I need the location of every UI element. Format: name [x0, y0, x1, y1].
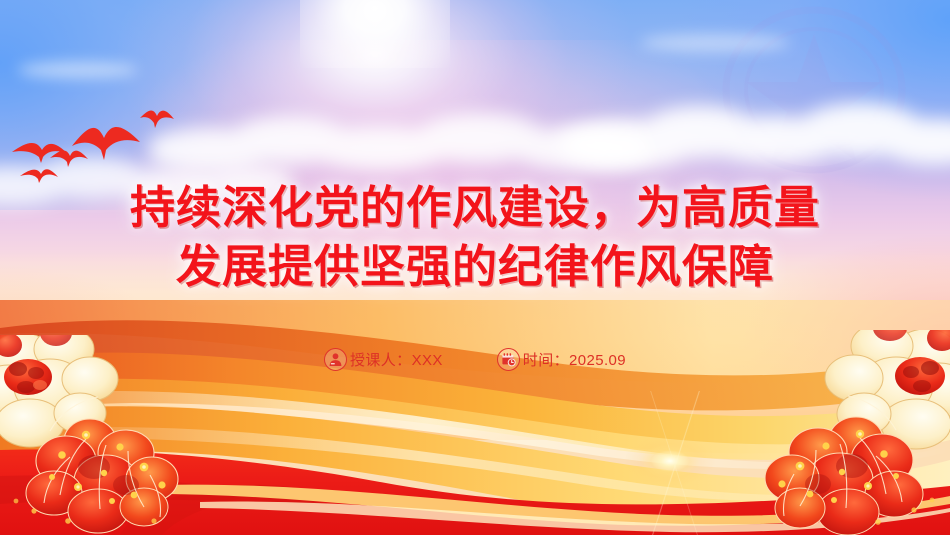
- presenter-text: 授课人：XXX: [350, 349, 443, 370]
- date-text: 时间：2025.09: [523, 349, 626, 370]
- presenter-item: 授课人：XXX: [324, 348, 443, 371]
- title-line-1: 持续深化党的作风建设，为高质量: [0, 178, 950, 237]
- title-line-2: 发展提供坚强的纪律作风保障: [0, 237, 950, 296]
- calendar-clock-icon: [497, 348, 520, 371]
- sun-core: [300, 0, 450, 68]
- presentation-slide: 持续深化党的作风建设，为高质量 发展提供坚强的纪律作风保障 授课人：XXX: [0, 0, 950, 535]
- date-item: 时间：2025.09: [497, 348, 626, 371]
- cloud-wisp-right-top: [640, 34, 790, 52]
- slide-title: 持续深化党的作风建设，为高质量 发展提供坚强的纪律作风保障: [0, 178, 950, 296]
- user-icon: [324, 348, 347, 371]
- slide-meta-row: 授课人：XXX 时间：2025.09: [0, 348, 950, 371]
